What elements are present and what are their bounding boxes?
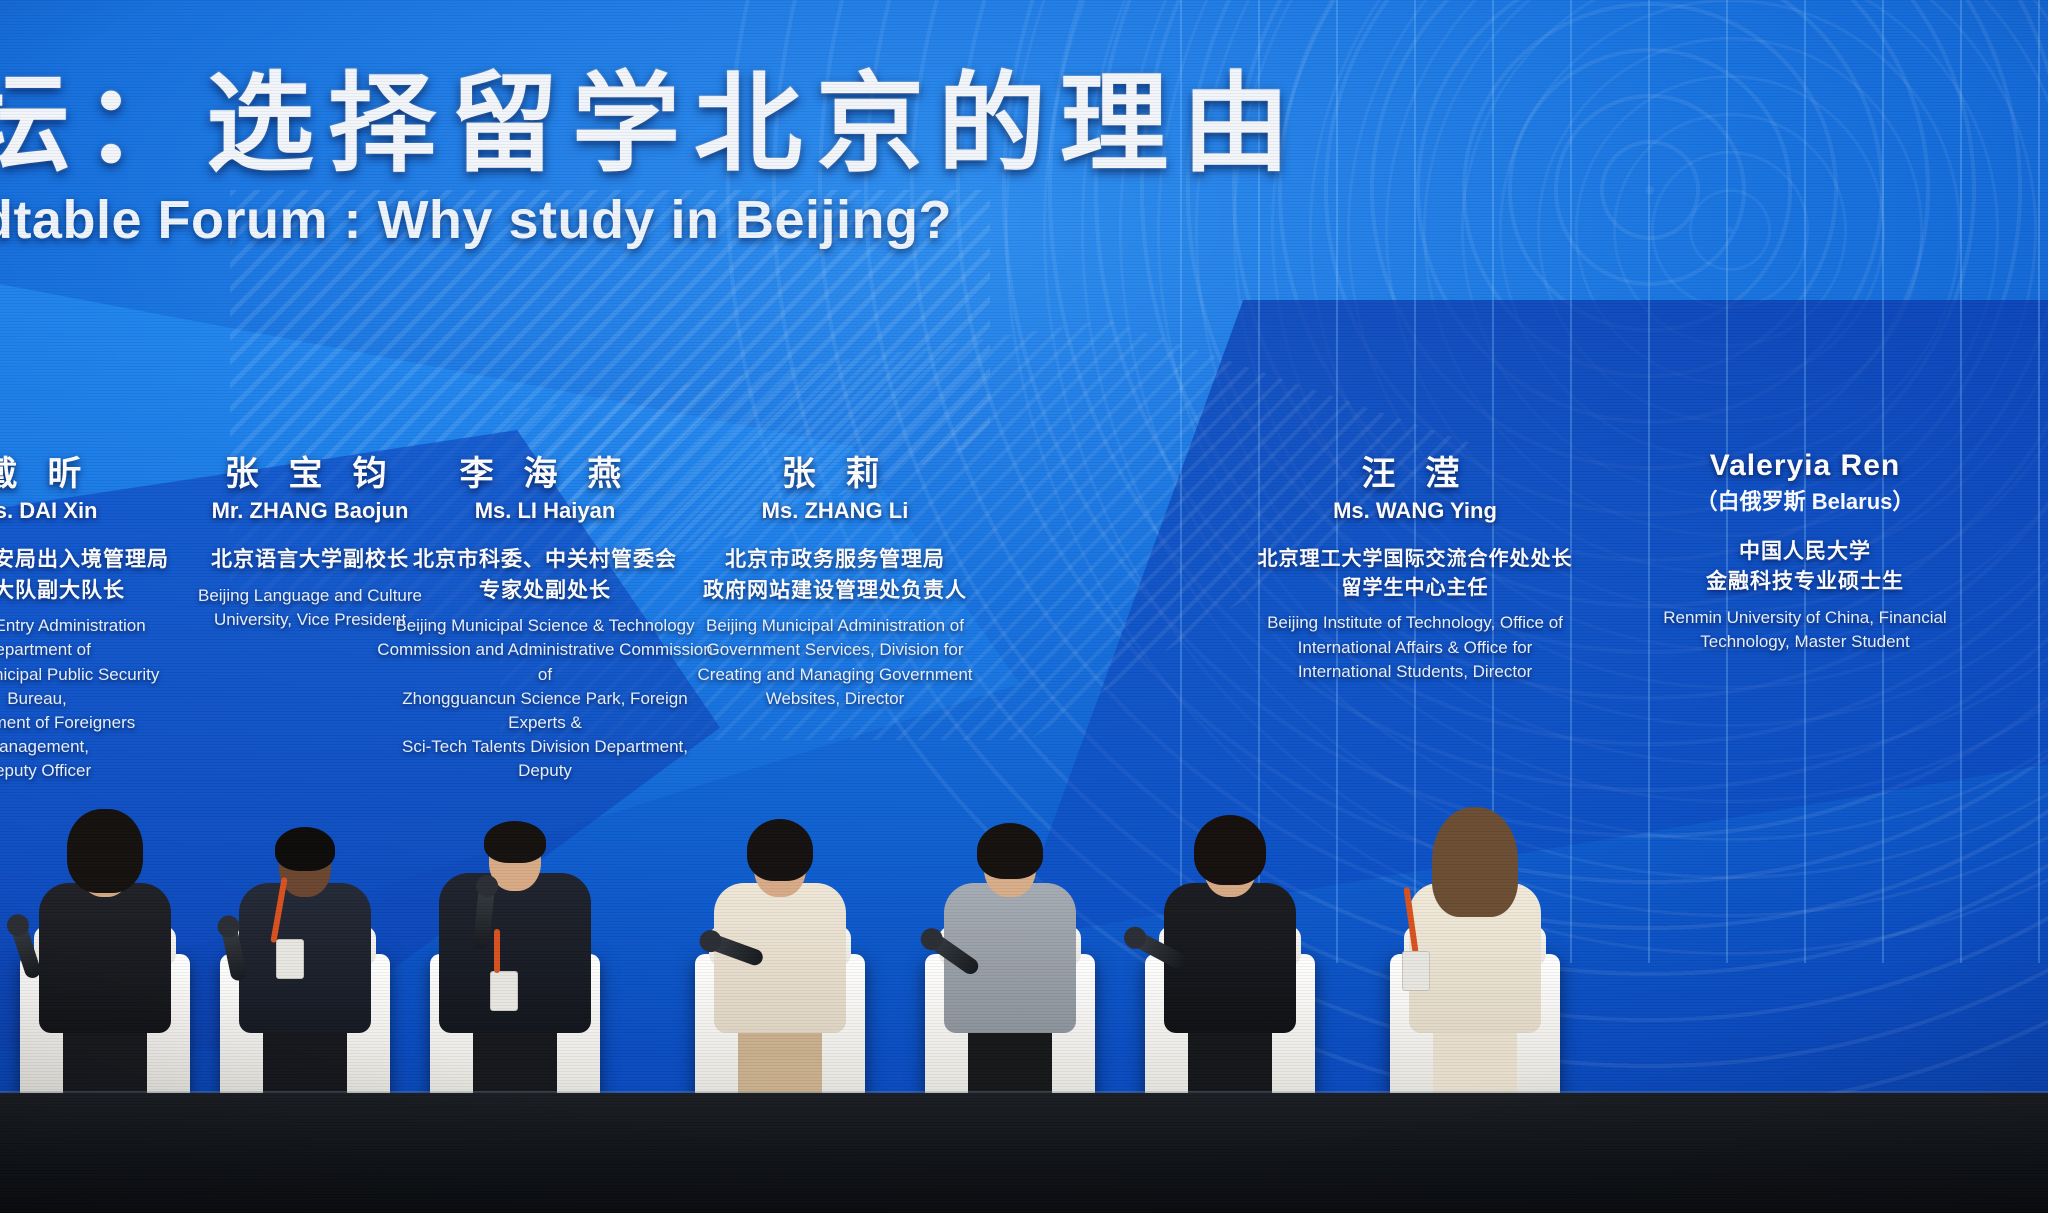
person-seat-6 — [1110, 779, 1350, 1129]
stage-floor — [0, 1093, 2048, 1213]
panelist-card-zhang-li: 张 莉 Ms. ZHANG Li 北京市政务服务管理局 政府网站建设管理处负责人… — [665, 455, 1005, 711]
conference-stage-photo: 论坛：选择留学北京的理由 Roundtable Forum : Why stud… — [0, 0, 2048, 1213]
hair — [1432, 807, 1518, 917]
panelist-affiliation-cn: 北京市政务服务管理局 政府网站建设管理处负责人 — [665, 544, 1005, 605]
panelist-card-li-haiyan: 李 海 燕 Ms. LI Haiyan 北京市科委、中关村管委会 专家处副处长 … — [375, 455, 715, 783]
panelist-name-cn: 汪 滢 — [1245, 455, 1585, 494]
panelist-card-dai-xin: 戴 昕 Ms. DAI Xin 北京市公安局出入境管理局 外管大队副大队长 Ex… — [0, 455, 182, 783]
panelist-name-cn: 李 海 燕 — [375, 455, 715, 494]
hair — [275, 827, 335, 871]
person-seat-2 — [190, 779, 420, 1129]
person-seat-4 — [665, 779, 895, 1129]
name-badge — [490, 971, 518, 1011]
lanyard — [494, 929, 500, 973]
panelist-name-en: Valeryia Ren — [1635, 448, 1975, 484]
person-seat-1 — [0, 779, 220, 1129]
panelist-affiliation-en: Beijing Municipal Science & Technology C… — [375, 614, 715, 783]
hair — [977, 823, 1043, 879]
panelist-affiliation-cn: 北京市公安局出入境管理局 外管大队副大队长 — [0, 544, 182, 605]
hair — [484, 821, 546, 863]
name-badge — [1402, 951, 1430, 991]
torso — [239, 883, 371, 1033]
panelist-affiliation-en: Beijing Municipal Administration of Gove… — [665, 614, 1005, 711]
panelist-name-en: Ms. WANG Ying — [1245, 498, 1585, 524]
panelist-name-en: Ms. DAI Xin — [0, 498, 182, 524]
hair — [747, 819, 813, 881]
name-badge — [276, 939, 304, 979]
panelist-nationality-cn: （白俄罗斯 Belarus） — [1635, 484, 1975, 516]
person-seat-5 — [895, 779, 1125, 1129]
panelist-name-en: Ms. ZHANG Li — [665, 498, 1005, 524]
person-seat-3-speaking — [390, 769, 640, 1129]
panelist-affiliation-en: Renmin University of China, Financial Te… — [1635, 606, 1975, 654]
panelist-affiliation-en: Exit and Entry Administration Department… — [0, 614, 182, 783]
panelist-affiliation-cn: 北京市科委、中关村管委会 专家处副处长 — [375, 544, 715, 605]
panelist-card-valeryia-ren: Valeryia Ren （白俄罗斯 Belarus） 中国人民大学 金融科技专… — [1635, 448, 1975, 654]
panelist-affiliation-cn: 北京理工大学国际交流合作处处长 留学生中心主任 — [1245, 544, 1585, 602]
panelist-affiliation-cn: 中国人民大学 金融科技专业硕士生 — [1635, 536, 1975, 597]
panelist-name-cn: 张 莉 — [665, 455, 1005, 494]
hair — [67, 809, 143, 893]
panelist-name-en: Ms. LI Haiyan — [375, 498, 715, 524]
panelist-affiliation-en: Beijing Institute of Technology, Office … — [1245, 611, 1585, 683]
panelist-name-cn: 戴 昕 — [0, 455, 182, 494]
panelist-card-wang-ying: 汪 滢 Ms. WANG Ying 北京理工大学国际交流合作处处长 留学生中心主… — [1245, 455, 1585, 684]
torso — [39, 883, 171, 1033]
hair — [1194, 815, 1266, 885]
person-seat-7 — [1350, 769, 1600, 1129]
